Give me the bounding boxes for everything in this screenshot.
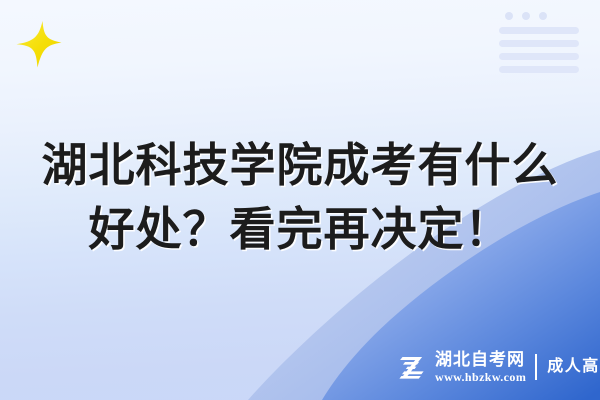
- hbzkw-logo-mark-icon: [398, 352, 428, 382]
- doc-icon-dot: [539, 12, 547, 20]
- headline: 湖北科技学院成考有什么 好处？看完再决定！: [0, 133, 600, 261]
- doc-icon-line: [499, 40, 579, 47]
- logo-site-url: www.hbzkw.com: [435, 370, 526, 384]
- doc-icon-line: [499, 66, 579, 73]
- doc-icon-line: [499, 53, 579, 60]
- doc-icon-dot-row: [505, 12, 585, 20]
- headline-line-2: 好处？看完再决定！: [0, 197, 600, 261]
- doc-icon-dot: [505, 12, 513, 20]
- logo-site-name: 湖北自考网: [435, 350, 526, 369]
- logo-tagline: 成人高考: [547, 358, 600, 376]
- doc-icon-line: [499, 27, 579, 34]
- doc-icon-dot: [522, 12, 530, 20]
- headline-line-1: 湖北科技学院成考有什么: [0, 133, 600, 197]
- document-lines-icon: [497, 12, 585, 64]
- site-logo-lockup[interactable]: 湖北自考网 www.hbzkw.com 成人高考: [398, 350, 600, 384]
- logo-text-block: 湖北自考网 www.hbzkw.com: [435, 350, 526, 384]
- logo-divider: [535, 354, 537, 380]
- sparkle-star-icon: [12, 18, 66, 72]
- promo-banner: 湖北科技学院成考有什么 好处？看完再决定！ 湖北自考网 www.hbzkw.co…: [0, 0, 600, 400]
